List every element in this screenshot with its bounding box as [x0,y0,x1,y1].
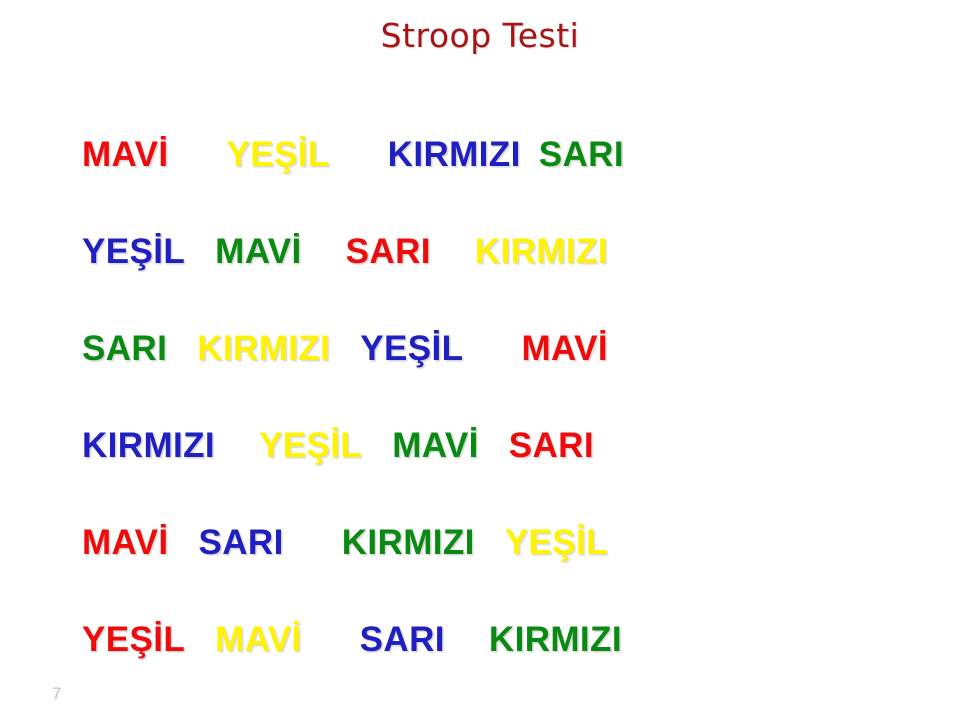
stroop-word-grid: MAVİ YEŞİL KIRMIZI SARIYEŞİL MAVİ SARI K… [0,106,960,688]
stroop-row: MAVİ SARI KIRMIZI YEŞİL [0,494,960,591]
word-spacer [521,146,539,164]
stroop-word: KIRMIZI [342,523,475,563]
word-spacer [185,243,215,261]
word-spacer [302,631,360,649]
stroop-word: SARI [199,523,284,563]
word-spacer [330,146,388,164]
stroop-word: SARI [82,329,167,369]
word-spacer [362,437,392,455]
stroop-word: MAVİ [82,523,169,563]
stroop-word: SARI [346,232,431,272]
word-spacer [215,437,259,455]
word-spacer [167,340,197,358]
stroop-word: KIRMIZI [197,329,330,369]
page-title: Stroop Testi [0,16,960,55]
stroop-word: MAVİ [215,620,302,660]
word-spacer [284,534,342,552]
word-spacer [185,631,215,649]
word-spacer [431,243,475,261]
word-spacer [169,146,227,164]
word-spacer [169,534,199,552]
stroop-row: MAVİ YEŞİL KIRMIZI SARI [0,106,960,203]
word-spacer [445,631,489,649]
stroop-word: MAVİ [521,329,608,369]
stroop-word: MAVİ [82,135,169,175]
stroop-row: SARI KIRMIZI YEŞİL MAVİ [0,300,960,397]
word-spacer [463,340,521,358]
stroop-word: KIRMIZI [82,426,215,466]
stroop-word: SARI [509,426,594,466]
stroop-word: YEŞİL [82,232,185,272]
stroop-word: KIRMIZI [475,232,608,272]
stroop-word: YEŞİL [227,135,330,175]
stroop-test-slide: Stroop Testi MAVİ YEŞİL KIRMIZI SARIYEŞİ… [0,0,960,720]
stroop-word: SARI [360,620,445,660]
word-spacer [302,243,346,261]
slide-page-number: 7 [52,684,61,704]
word-spacer [475,534,505,552]
stroop-word: MAVİ [215,232,302,272]
stroop-word: YEŞİL [360,329,463,369]
stroop-word: YEŞİL [505,523,608,563]
stroop-word: YEŞİL [259,426,362,466]
stroop-row: YEŞİL MAVİ SARI KIRMIZI [0,591,960,688]
word-spacer [479,437,509,455]
stroop-word: YEŞİL [82,620,185,660]
stroop-word: KIRMIZI [388,135,521,175]
word-spacer [330,340,360,358]
stroop-word: KIRMIZI [489,620,622,660]
stroop-word: SARI [539,135,624,175]
stroop-row: KIRMIZI YEŞİL MAVİ SARI [0,397,960,494]
stroop-row: YEŞİL MAVİ SARI KIRMIZI [0,203,960,300]
stroop-word: MAVİ [392,426,479,466]
